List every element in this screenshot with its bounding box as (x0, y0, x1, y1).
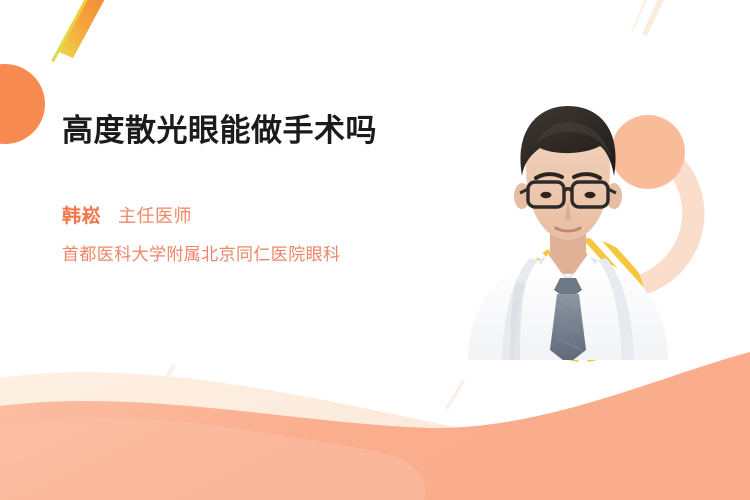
necktie (550, 278, 586, 360)
salmon-wave-shape (0, 352, 750, 500)
cream-wave-shape (0, 372, 750, 500)
orange-circle-icon (0, 64, 45, 144)
bottom-mid-faint-streak-icon (445, 380, 465, 410)
page-title: 高度散光眼能做手术吗 (62, 108, 407, 153)
doctor-identity-row: 韩崧 主任医师 (62, 201, 452, 228)
doctor-portrait (452, 92, 684, 360)
top-right-streak-icon (631, 0, 674, 36)
bottom-left-faint-streak-icon (153, 364, 176, 397)
doctor-portrait-illustration (452, 92, 684, 360)
salmon-wave-overlay-shape (0, 417, 426, 500)
eye-left (541, 192, 552, 198)
doctor-info-card: 高度散光眼能做手术吗 韩崧 主任医师 首都医科大学附属北京同仁医院眼科 (0, 0, 750, 500)
doctor-affiliation: 首都医科大学附属北京同仁医院眼科 (62, 242, 392, 268)
doctor-rank: 主任医师 (118, 202, 192, 228)
eye-right (585, 192, 596, 198)
top-left-streak-icon (51, 0, 113, 62)
text-content: 高度散光眼能做手术吗 韩崧 主任医师 首都医科大学附属北京同仁医院眼科 (62, 108, 452, 268)
doctor-name: 韩崧 (62, 201, 101, 228)
